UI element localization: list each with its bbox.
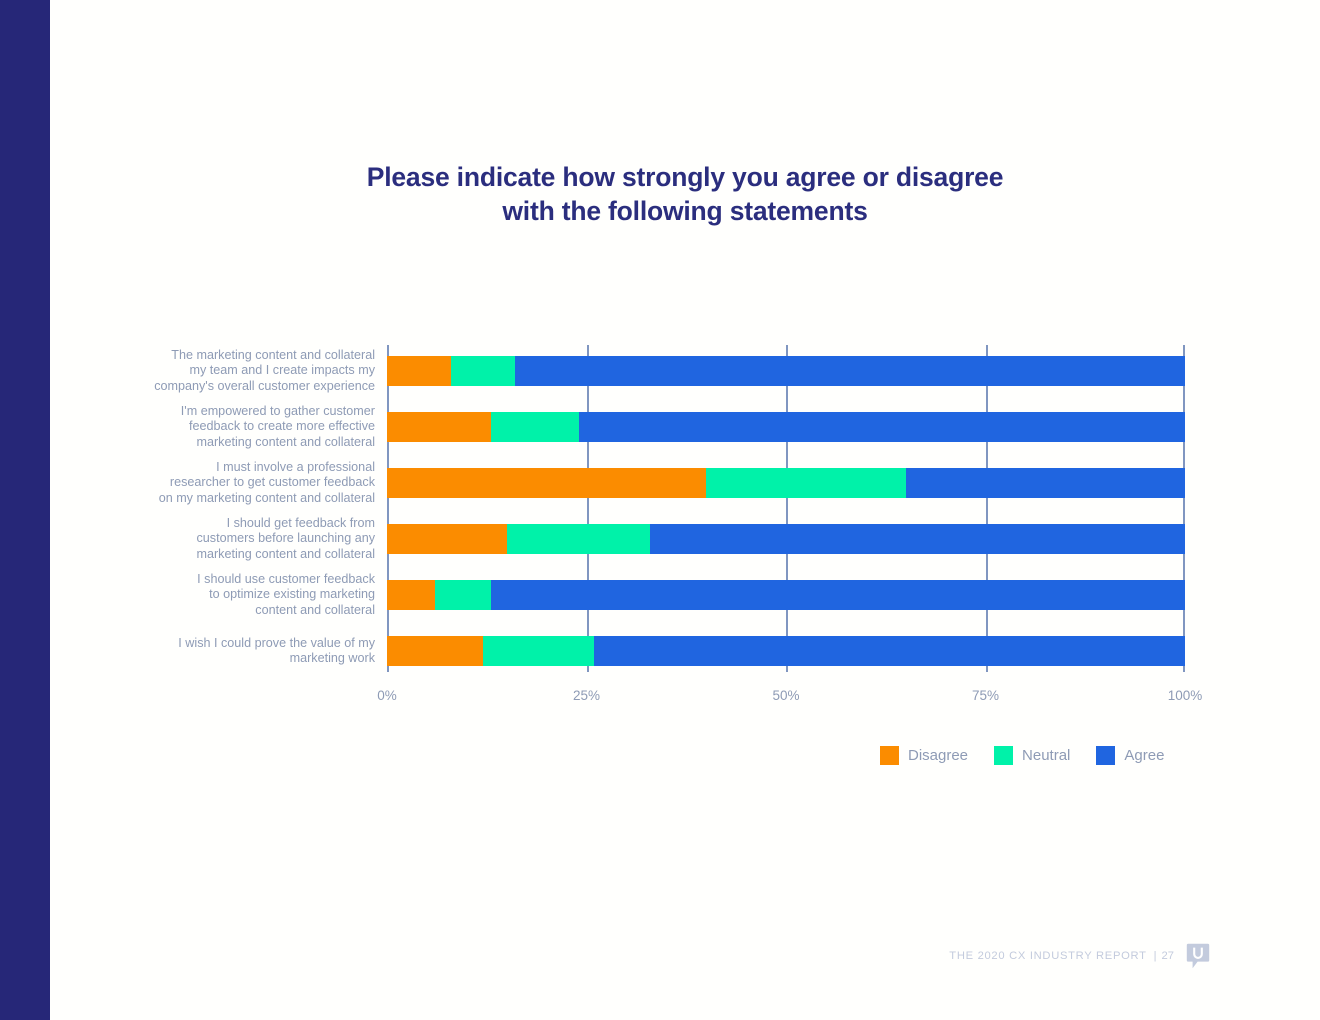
stacked-bar-chart: The marketing content and collateralmy t… <box>0 0 1320 1020</box>
legend-label: Neutral <box>1022 747 1070 764</box>
slide-footer: THE 2020 CX INDUSTRY REPORT | 27 <box>800 941 1210 971</box>
category-label: I should use customer feedbackto optimiz… <box>125 572 375 618</box>
category-label-line: The marketing content and collateral <box>125 348 375 363</box>
category-label-line: marketing work <box>125 651 375 666</box>
bar-segment-agree <box>515 356 1185 386</box>
bar-segment-agree <box>491 580 1185 610</box>
bar-row <box>387 636 1185 666</box>
bar-row <box>387 412 1185 442</box>
slide-canvas: Please indicate how strongly you agree o… <box>0 0 1320 1020</box>
bar-segment-agree <box>650 524 1185 554</box>
category-axis-labels: The marketing content and collateralmy t… <box>125 345 375 672</box>
bar-segment-neutral <box>706 468 906 498</box>
legend-item[interactable]: Neutral <box>994 746 1070 765</box>
bar-row <box>387 580 1185 610</box>
category-label-line: researcher to get customer feedback <box>125 475 375 490</box>
category-label-line: marketing content and collateral <box>125 435 375 450</box>
bar-row <box>387 468 1185 498</box>
value-axis-tick: 75% <box>972 688 999 703</box>
category-label-line: content and collateral <box>125 603 375 618</box>
legend-swatch-icon <box>880 746 899 765</box>
bar-segment-disagree <box>387 636 483 666</box>
category-label-line: feedback to create more effective <box>125 419 375 434</box>
gridline <box>1183 345 1185 672</box>
category-label-line: I'm empowered to gather customer <box>125 404 375 419</box>
bar-segment-disagree <box>387 356 451 386</box>
bar-segment-disagree <box>387 412 491 442</box>
bar-row <box>387 356 1185 386</box>
category-label: I should get feedback fromcustomers befo… <box>125 516 375 562</box>
legend-item[interactable]: Agree <box>1096 746 1164 765</box>
value-axis-tick: 0% <box>377 688 397 703</box>
gridline <box>387 345 389 672</box>
category-label-line: company's overall customer experience <box>125 379 375 394</box>
bar-segment-disagree <box>387 524 507 554</box>
value-axis-tick: 50% <box>772 688 799 703</box>
bar-segment-neutral <box>451 356 515 386</box>
bar-segment-neutral <box>491 412 579 442</box>
bar-segment-agree <box>579 412 1185 442</box>
footer-separator: | <box>1154 950 1157 962</box>
category-label-line: to optimize existing marketing <box>125 587 375 602</box>
category-label-line: marketing content and collateral <box>125 547 375 562</box>
speech-bubble-u-logo-icon <box>1186 943 1210 969</box>
category-label-line: I should get feedback from <box>125 516 375 531</box>
category-label: I must involve a professionalresearcher … <box>125 460 375 506</box>
category-label-line: I should use customer feedback <box>125 572 375 587</box>
legend-swatch-icon <box>1096 746 1115 765</box>
bar-segment-neutral <box>483 636 595 666</box>
gridline <box>587 345 589 672</box>
legend-label: Agree <box>1124 747 1164 764</box>
plot-area <box>387 345 1185 672</box>
bar-segment-disagree <box>387 468 706 498</box>
bar-segment-agree <box>906 468 1185 498</box>
category-label-line: on my marketing content and collateral <box>125 491 375 506</box>
category-label: I wish I could prove the value of mymark… <box>125 636 375 666</box>
category-label-line: my team and I create impacts my <box>125 363 375 378</box>
legend-swatch-icon <box>994 746 1013 765</box>
bar-segment-agree <box>594 636 1185 666</box>
category-label-line: I wish I could prove the value of my <box>125 636 375 651</box>
legend-item[interactable]: Disagree <box>880 746 968 765</box>
value-axis: 0%25%50%75%100% <box>387 688 1185 710</box>
chart-legend: DisagreeNeutralAgree <box>880 744 1190 766</box>
category-label-line: I must involve a professional <box>125 460 375 475</box>
gridline <box>986 345 988 672</box>
bar-segment-neutral <box>507 524 651 554</box>
category-label: I'm empowered to gather customerfeedback… <box>125 404 375 450</box>
footer-report-title: THE 2020 CX INDUSTRY REPORT <box>949 950 1146 962</box>
bar-row <box>387 524 1185 554</box>
gridline <box>786 345 788 672</box>
category-label: The marketing content and collateralmy t… <box>125 348 375 394</box>
category-label-line: customers before launching any <box>125 531 375 546</box>
footer-page-number: 27 <box>1162 950 1174 962</box>
bar-segment-neutral <box>435 580 491 610</box>
legend-label: Disagree <box>908 747 968 764</box>
value-axis-tick: 100% <box>1168 688 1203 703</box>
bar-segment-disagree <box>387 580 435 610</box>
value-axis-tick: 25% <box>573 688 600 703</box>
